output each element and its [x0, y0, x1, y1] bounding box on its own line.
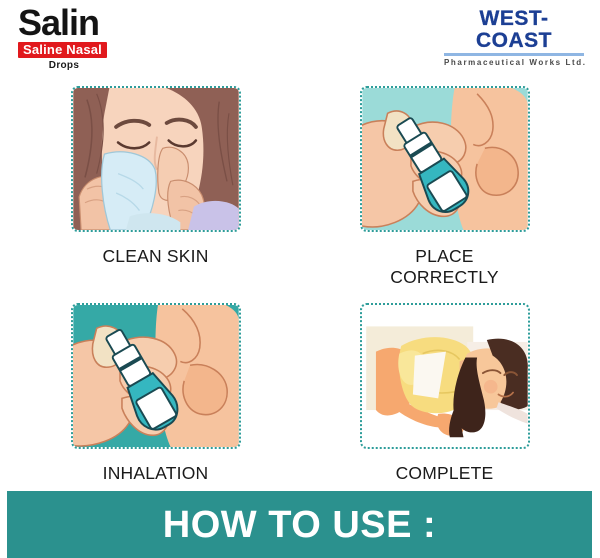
step-inhalation-frame — [71, 303, 241, 449]
step-inhalation: INHALATION — [71, 303, 241, 484]
step-complete-label: COMPLETE — [360, 463, 530, 484]
product-logo-banner: Saline Nasal — [18, 42, 107, 58]
step-clean-skin-label: CLEAN SKIN — [71, 246, 241, 267]
step-place-correctly-label: PLACE CORRECTLY — [360, 246, 530, 288]
hand-squeezing-nasal-spray-into-nostril-icon — [73, 305, 239, 447]
how-to-use-banner: HOW TO USE : — [7, 491, 592, 558]
company-logo-subtitle: Pharmaceutical Works Ltd. — [444, 58, 584, 67]
step-place-correctly: PLACE CORRECTLY — [360, 86, 530, 288]
company-logo-west-coast: WEST-COAST Pharmaceutical Works Ltd. — [444, 8, 584, 67]
product-logo-name: Salin — [18, 6, 138, 40]
step-clean-skin-frame — [71, 86, 241, 232]
woman-sleeping-on-pillow-icon — [362, 305, 528, 447]
company-logo-name: WEST-COAST — [444, 8, 584, 52]
hand-holding-nasal-spray-at-nose-icon — [362, 88, 528, 230]
product-logo-subtitle: Drops — [18, 60, 110, 71]
step-complete: COMPLETE — [360, 303, 530, 484]
product-logo-salin: Salin Saline Nasal Drops — [18, 6, 138, 71]
how-to-use-title: HOW TO USE : — [7, 504, 592, 547]
step-place-correctly-frame — [360, 86, 530, 232]
woman-wiping-nose-with-tissue-icon — [73, 88, 239, 230]
step-clean-skin: CLEAN SKIN — [71, 86, 241, 288]
step-complete-frame — [360, 303, 530, 449]
step-inhalation-label: INHALATION — [71, 463, 241, 484]
company-logo-rule — [444, 53, 584, 56]
how-to-use-steps: CLEAN SKIN — [0, 86, 600, 484]
step-row-bottom: INHALATION — [0, 303, 600, 484]
step-row-top: CLEAN SKIN — [0, 86, 600, 288]
page-header: Salin Saline Nasal Drops WEST-COAST Phar… — [0, 0, 600, 70]
